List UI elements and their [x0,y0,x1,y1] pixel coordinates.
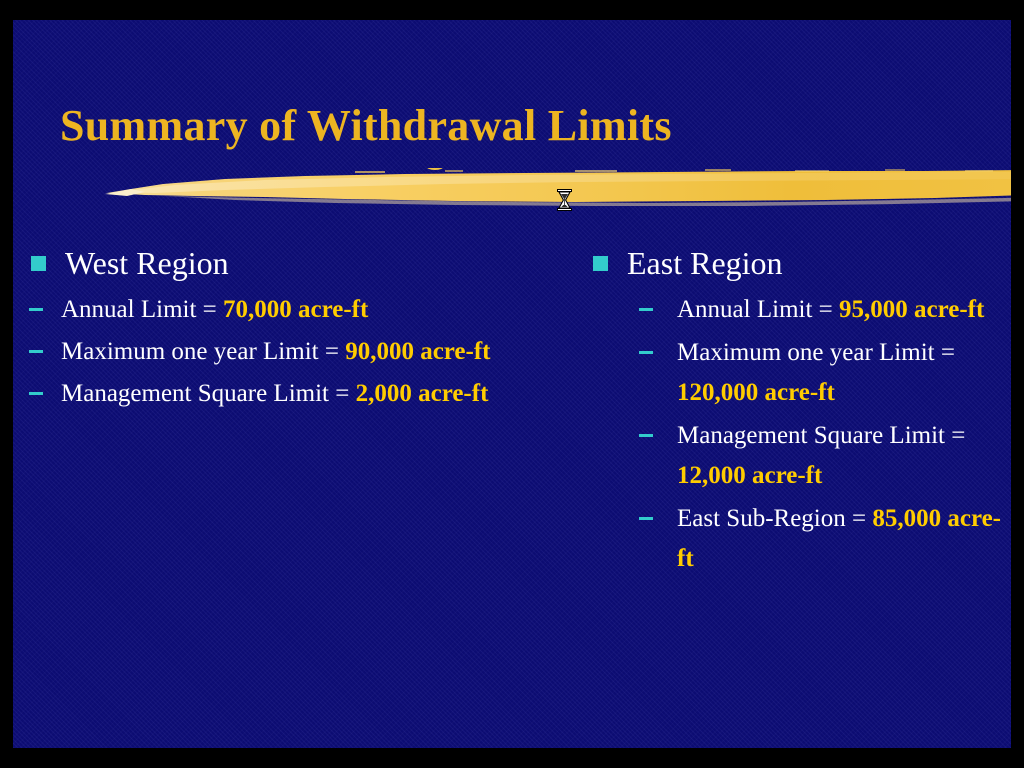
column-east: East Region Annual Limit = 95,000 acre-f… [583,242,1003,582]
limit-label: Management Square Limit = [61,380,356,407]
list-item: Maximum one year Limit = 120,000 acre-ft [583,333,1003,413]
limit-text: Management Square Limit = 12,000 acre-ft [677,416,1003,496]
limit-list-west: Annual Limit = 70,000 acre-ft Maximum on… [21,290,551,413]
list-item: Annual Limit = 95,000 acre-ft [583,290,1003,330]
square-bullet-icon [31,256,46,271]
limit-label: Maximum one year Limit = [677,339,955,366]
limit-value: 90,000 acre-ft [345,338,490,365]
dash-bullet-icon [29,392,43,395]
body-columns: West Region Annual Limit = 70,000 acre-f… [13,242,1011,712]
title-block: Summary of Withdrawal Limits [60,98,960,168]
region-heading-west: West Region [21,242,551,284]
limit-label: Annual Limit = [677,296,839,323]
dash-bullet-icon [639,351,653,354]
list-item: Management Square Limit = 12,000 acre-ft [583,416,1003,496]
limit-text: East Sub-Region = 85,000 acre-ft [677,499,1003,579]
list-item: Annual Limit = 70,000 acre-ft [21,290,551,329]
column-west: West Region Annual Limit = 70,000 acre-f… [21,242,551,416]
limit-label: Management Square Limit = [677,422,965,449]
limit-text: Annual Limit = 95,000 acre-ft [677,290,1003,330]
dash-bullet-icon [639,308,653,311]
hourglass-cursor-icon [556,189,573,211]
region-heading-label: West Region [65,242,551,284]
region-heading-east: East Region [583,242,1003,284]
limit-text: Maximum one year Limit = 120,000 acre-ft [677,333,1003,413]
dash-bullet-icon [29,308,43,311]
limit-label: Maximum one year Limit = [61,338,345,365]
square-bullet-icon [593,256,608,271]
limit-value: 12,000 acre-ft [677,462,822,489]
dash-bullet-icon [639,434,653,437]
slide-canvas: Summary of Withdrawal Limits [13,20,1011,748]
limit-text: Annual Limit = 70,000 acre-ft [61,290,551,329]
list-item: Management Square Limit = 2,000 acre-ft [21,374,551,413]
list-item: East Sub-Region = 85,000 acre-ft [583,499,1003,579]
slide-title: Summary of Withdrawal Limits [60,98,960,154]
slide-frame: Summary of Withdrawal Limits [0,0,1024,768]
limit-text: Management Square Limit = 2,000 acre-ft [61,374,551,413]
region-heading-label: East Region [627,242,1003,284]
limit-value: 2,000 acre-ft [356,380,489,407]
dash-bullet-icon [639,517,653,520]
list-item: Maximum one year Limit = 90,000 acre-ft [21,332,551,371]
limit-label: East Sub-Region = [677,505,872,532]
limit-value: 70,000 acre-ft [223,296,368,323]
limit-value: 95,000 acre-ft [839,296,984,323]
limit-label: Annual Limit = [61,296,223,323]
dash-bullet-icon [29,350,43,353]
limit-value: 120,000 acre-ft [677,379,835,406]
limit-list-east: Annual Limit = 95,000 acre-ft Maximum on… [583,290,1003,579]
limit-text: Maximum one year Limit = 90,000 acre-ft [61,332,551,371]
